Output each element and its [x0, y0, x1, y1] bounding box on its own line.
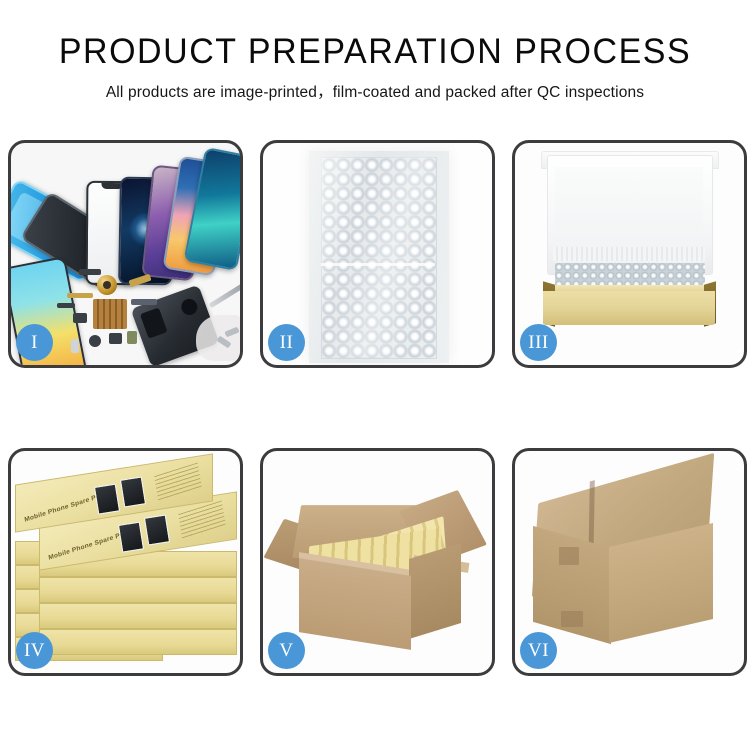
step-number-badge: III	[520, 324, 557, 361]
retail-box-icon	[39, 577, 237, 603]
step-number-badge: V	[268, 632, 305, 669]
page-subtitle: All products are image-printed，film-coat…	[0, 80, 750, 102]
step-panel-products-and-spare-parts: I	[8, 140, 243, 368]
step-number-badge: I	[16, 324, 53, 361]
bubble-wrap-icon	[321, 157, 437, 359]
foam-layer-icon	[553, 247, 705, 261]
step-panel-stacked-retail-boxes: Mobile Phone Spare Parts Mobile Phone Sp…	[8, 448, 243, 676]
box-artwork-screen-icon	[120, 476, 146, 507]
process-steps-grid: I II III	[8, 140, 742, 676]
box-artwork-screen-icon	[144, 514, 170, 545]
product-preparation-infographic: PRODUCT PREPARATION PROCESS All products…	[0, 0, 750, 750]
tweezer-tool-icon	[209, 283, 240, 308]
step-number-badge: IV	[16, 632, 53, 669]
step-panel-carton-loading: V	[260, 448, 495, 676]
small-part-icon	[127, 331, 137, 344]
box-spec-lines-icon	[178, 500, 226, 539]
step-panel-sealed-carton: VI	[512, 448, 747, 676]
step-number-badge: II	[268, 324, 305, 361]
copper-coil-part-icon	[97, 275, 117, 295]
step-panel-inner-box-packing: III	[512, 140, 747, 368]
retail-box-icon	[39, 629, 237, 655]
flex-cable-icon	[67, 293, 93, 298]
screw-grid-part-icon	[93, 299, 127, 329]
box-front-icon	[543, 291, 715, 325]
box-artwork-screen-icon	[94, 484, 120, 515]
carton-tape-icon	[561, 611, 583, 627]
small-part-icon	[57, 303, 75, 308]
small-part-icon	[109, 333, 122, 344]
box-artwork-screen-icon	[118, 522, 144, 553]
small-part-icon	[79, 269, 101, 275]
flex-cable-icon	[131, 299, 157, 305]
header: PRODUCT PREPARATION PROCESS All products…	[0, 32, 750, 102]
step-number-badge: VI	[520, 632, 557, 669]
page-title: PRODUCT PREPARATION PROCESS	[11, 32, 739, 72]
box-spec-lines-icon	[154, 462, 202, 501]
retail-box-icon	[39, 603, 237, 629]
small-part-icon	[71, 339, 79, 353]
small-part-icon	[73, 313, 87, 323]
step-panel-bubble-wrap-wrapping: II	[260, 140, 495, 368]
wrap-seam-icon	[321, 263, 435, 266]
carton-tape-icon	[559, 547, 579, 565]
small-part-icon	[89, 335, 101, 347]
carton-right-face-icon	[409, 543, 461, 639]
